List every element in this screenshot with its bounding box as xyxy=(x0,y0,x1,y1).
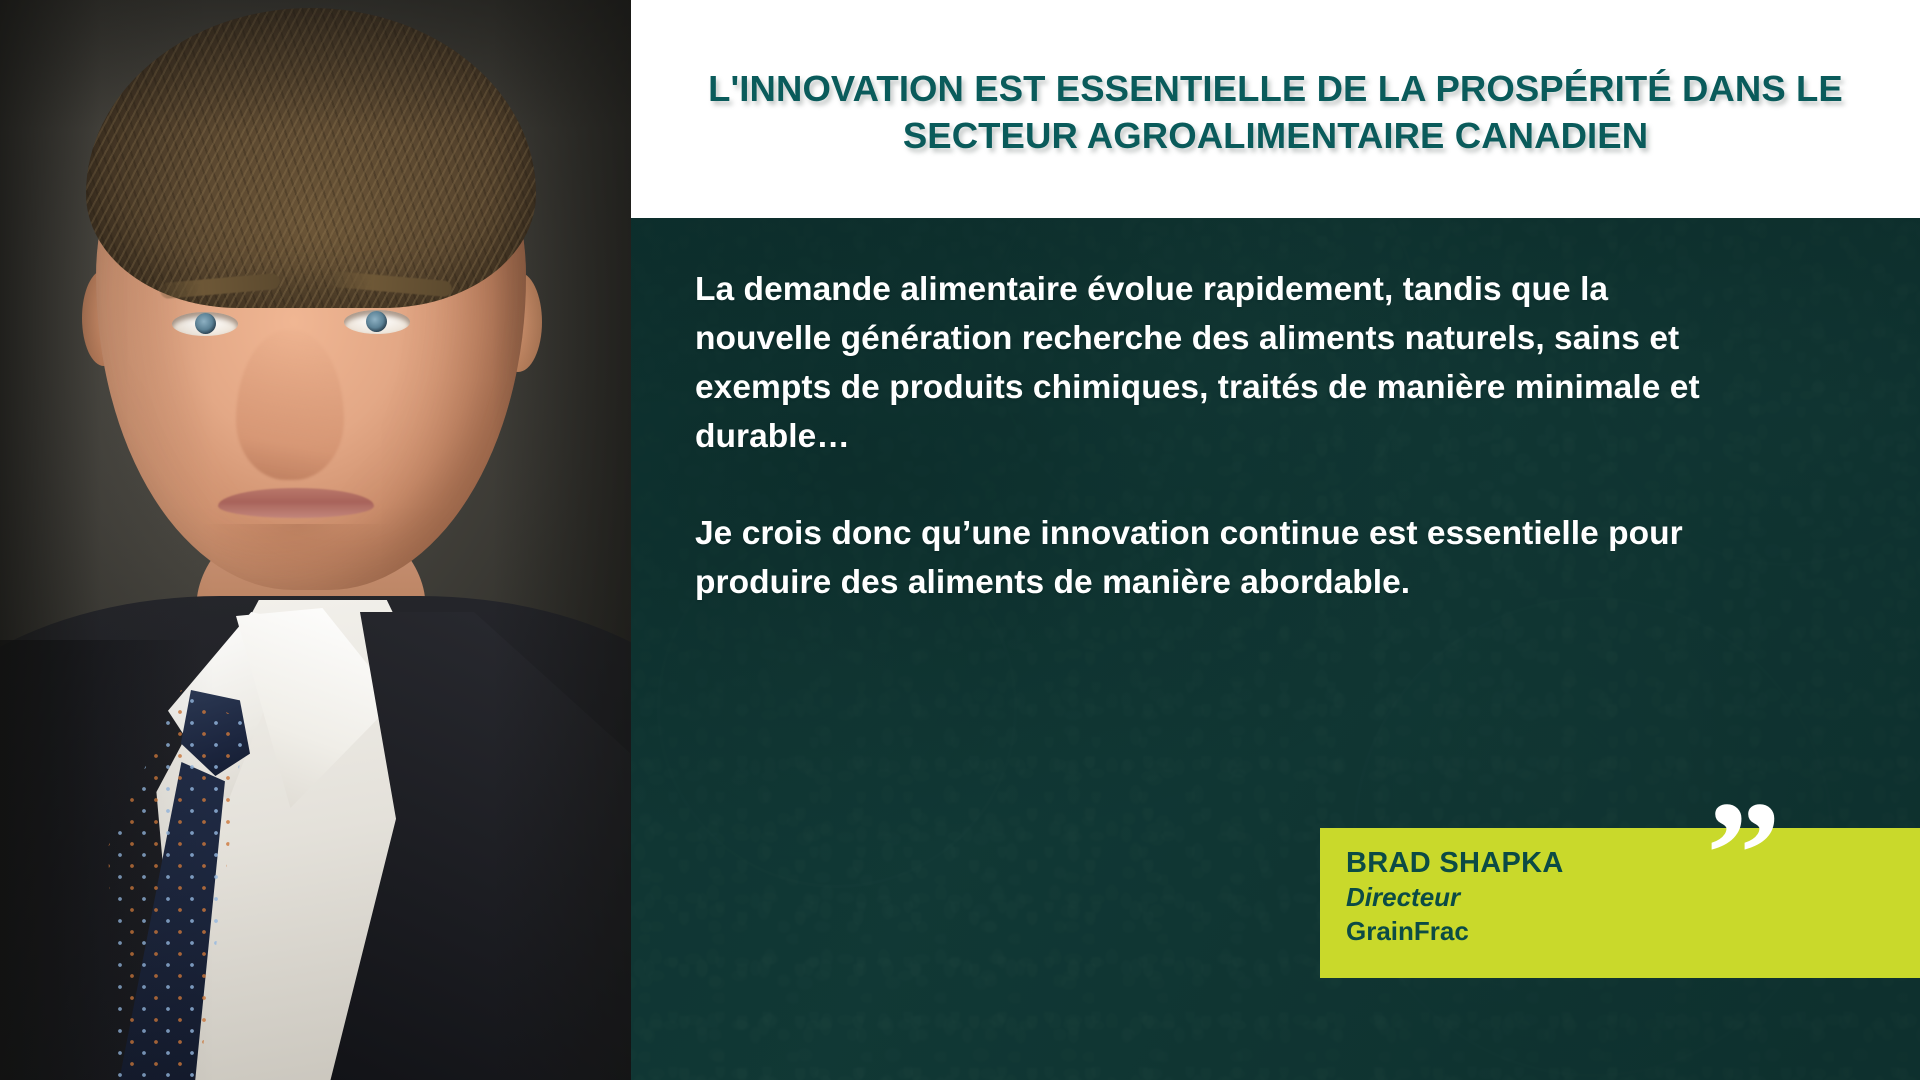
quote-paragraph-1: La demande alimentaire évolue rapidement… xyxy=(695,266,1725,462)
attribution-organization: GrainFrac xyxy=(1346,915,1920,949)
headline-text: L'INNOVATION EST ESSENTIELLE DE LA PROSP… xyxy=(661,65,1891,160)
quote-paragraph-2: Je crois donc qu’une innovation continue… xyxy=(695,510,1725,608)
attribution-role: Directeur xyxy=(1346,881,1920,915)
mouth xyxy=(218,488,374,518)
headline-band: L'INNOVATION EST ESSENTIELLE DE LA PROSP… xyxy=(631,0,1920,218)
content-panel: L'INNOVATION EST ESSENTIELLE DE LA PROSP… xyxy=(631,0,1920,1080)
speaker-portrait-photo xyxy=(0,0,631,1080)
attribution-box: BRAD SHAPKA Directeur GrainFrac xyxy=(1320,828,1920,978)
quote-card: L'INNOVATION EST ESSENTIELLE DE LA PROSP… xyxy=(0,0,1920,1080)
iris-right xyxy=(366,311,387,332)
quote-paragraph-spacer xyxy=(695,462,1725,510)
textured-background: La demande alimentaire évolue rapidement… xyxy=(631,218,1920,1080)
chin-shadow xyxy=(200,524,396,578)
closing-quotation-mark-icon: ” xyxy=(1706,800,1777,908)
iris-left xyxy=(195,313,216,334)
quote-block: La demande alimentaire évolue rapidement… xyxy=(695,266,1725,607)
attribution-name: BRAD SHAPKA xyxy=(1346,846,1920,881)
